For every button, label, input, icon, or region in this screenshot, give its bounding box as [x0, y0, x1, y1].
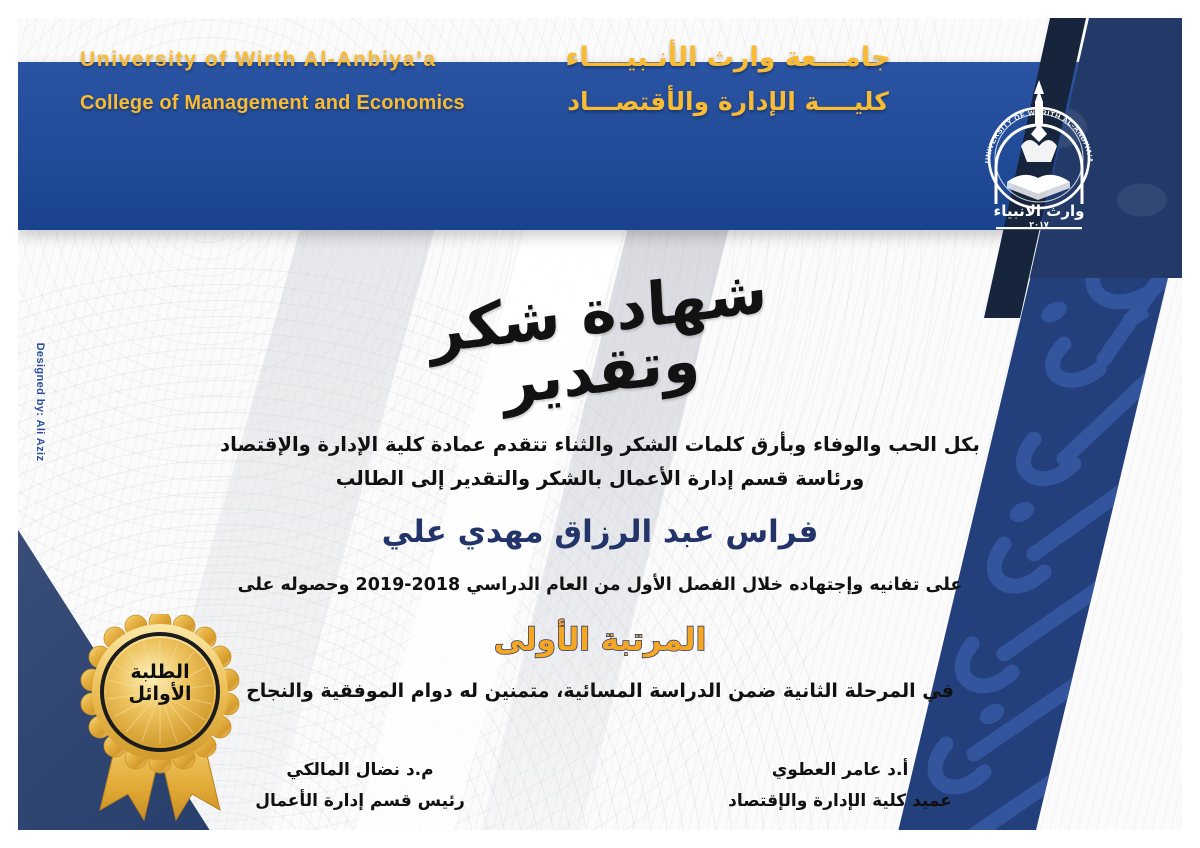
logo-arabic-text: وارث الانبياء	[994, 202, 1085, 220]
university-name-ar: جامـــعة وارث الأنـبيــــاء	[518, 42, 938, 73]
college-name-en: College of Management and Economics	[80, 92, 465, 115]
certificate-paper: University of Wirth Al-Anbiya’a College …	[18, 18, 1182, 830]
award-seal: الطلبة الأوائل	[66, 614, 254, 826]
designer-credit: Designed by: Ali Aziz	[34, 342, 46, 462]
university-name-en: University of Wirth Al-Anbiya’a	[80, 48, 465, 72]
english-titles: University of Wirth Al-Anbiya’a College …	[80, 48, 465, 115]
arabic-titles: جامـــعة وارث الأنـبيــــاء كليــــة الإ…	[518, 42, 938, 116]
college-name-ar: كليــــة الإدارة والأقتصـــاد	[518, 87, 938, 116]
certificate-page: University of Wirth Al-Anbiya’a College …	[0, 0, 1200, 848]
university-logo-icon: UNIVERSITY OF WARITH AL-ANBIYA'A وارث ال…	[974, 72, 1104, 230]
